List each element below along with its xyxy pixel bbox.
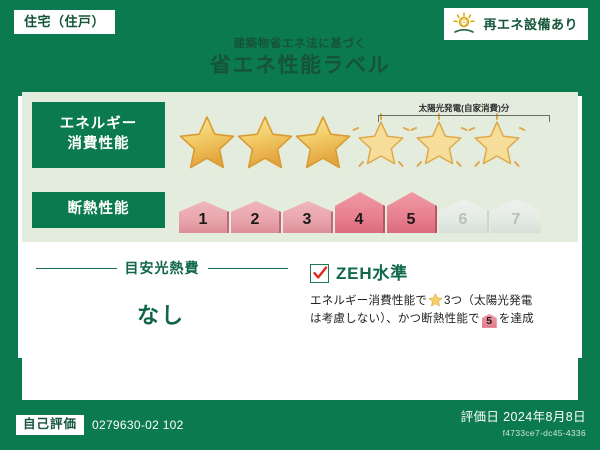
insulation-performance-row: 断熱性能 1 2 3 4 5 6 7 [22,187,578,233]
solar-bracket: 太陽光発電(自家消費)分 [378,104,550,122]
footer-right: 評価日 2024年8月8日 f4733ce7-dc45-4336 [461,409,586,438]
zeh-block: ZEH水準 エネルギー消費性能で3つ（太陽光発電 は考慮しない）、かつ断熱性能で… [310,264,572,329]
evaluation-date: 評価日 2024年8月8日 [461,409,586,425]
zeh-header: ZEH水準 [310,264,572,283]
zeh-title: ZEH水準 [336,265,408,282]
star-filled-2 [235,112,295,170]
sun-icon: 円 [451,12,477,36]
renewable-equipment-badge: 円 再エネ設備あり [444,8,588,40]
solar-bracket-line [378,115,550,122]
evaluation-id: f4733ce7-dc45-4336 [461,428,586,438]
insulation-grade-5: 5 [387,192,437,233]
star-filled-1 [177,112,237,170]
insulation-grade-6: 6 [439,199,489,233]
zeh-description: エネルギー消費性能で3つ（太陽光発電 は考慮しない）、かつ断熱性能で5を達成 [310,292,572,329]
energy-performance-label: 住宅（住戸） 円 再エネ設備あり 建築物省エネ法に基づく 省エネ性能ラベル [0,0,600,450]
housing-type-badge: 住宅（住戸） [14,10,115,34]
performance-panel: エネルギー 消費性能 太陽光発電(自家消費)分 [22,92,578,242]
self-evaluation-badge: 自己評価 [16,415,84,435]
insulation-grade-1: 1 [179,201,229,233]
utility-cost-title: 目安光熱費 [117,258,208,278]
energy-label-line2: 消費性能 [32,135,165,155]
inline-star-icon [428,292,443,307]
insulation-grade-3: 3 [283,201,333,233]
insulation-grade-4: 4 [335,192,385,233]
rule-right [208,268,289,269]
footer-band: 自己評価 0279630-02 102 評価日 2024年8月8日 f4733c… [0,400,600,450]
zeh-desc-part3: を達成 [499,313,534,325]
check-icon [310,264,329,283]
energy-performance-label-box: エネルギー 消費性能 [32,102,165,168]
insulation-grades-area: 1 2 3 4 5 6 7 [165,187,578,233]
utility-cost-value: なし [22,298,300,330]
title-main: 省エネ性能ラベル [0,53,600,79]
utility-cost-header: 目安光熱費 [36,258,288,278]
footer-left: 自己評価 0279630-02 102 [16,415,184,435]
insulation-performance-label-box: 断熱性能 [32,192,165,228]
solar-bracket-label: 太陽光発電(自家消費)分 [378,104,550,113]
label-title: 建築物省エネ法に基づく 省エネ性能ラベル [0,38,600,79]
svg-text:円: 円 [461,20,467,27]
insulation-grade-7: 7 [491,199,541,233]
lower-section: 目安光熱費 なし ZEH水準 エネルギー消費性能で3つ（太陽光発電 は考慮しない… [22,242,578,400]
energy-stars-area: 太陽光発電(自家消費)分 [165,100,578,170]
zeh-desc-starcount: 3つ（太陽光発電 [444,295,533,307]
rule-left [36,268,117,269]
utility-cost-block: 目安光熱費 なし [22,242,300,400]
zeh-desc-part1: エネルギー消費性能で [310,295,427,307]
insulation-grade-2: 2 [231,201,281,233]
self-evaluation-number: 0279630-02 102 [92,418,184,432]
energy-performance-row: エネルギー 消費性能 太陽光発電(自家消費)分 [22,100,578,170]
renewable-badge-label: 再エネ設備あり [483,18,578,31]
energy-label-line1: エネルギー [32,115,165,135]
inline-grade-badge: 5 [482,314,497,328]
zeh-desc-part2: は考慮しない）、かつ断熱性能で [310,313,480,325]
star-filled-3 [293,112,353,170]
